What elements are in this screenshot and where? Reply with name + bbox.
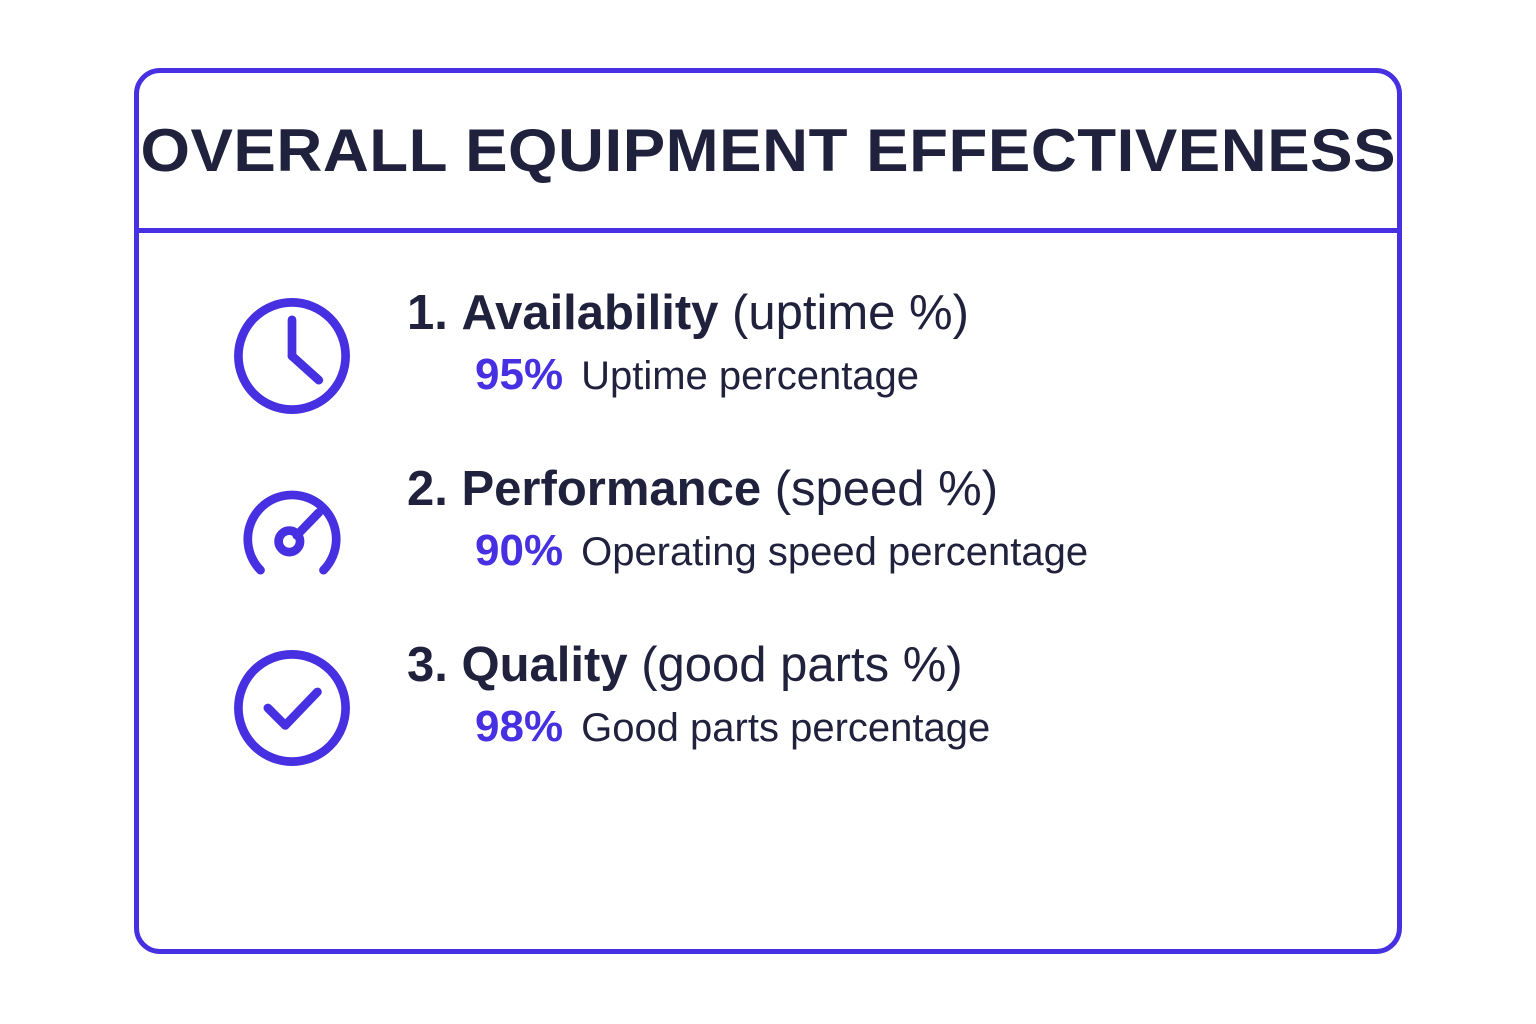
metric-row: 3. Quality (good parts %) 98% Good parts… (223, 635, 1351, 777)
metric-sub: 95% Uptime percentage (407, 352, 1351, 398)
metric-text: 1. Availability (uptime %) 95% Uptime pe… (407, 283, 1351, 398)
metric-heading: 1. Availability (uptime %) (407, 287, 1351, 340)
metric-rank: 2. (407, 462, 448, 516)
clock-icon (223, 287, 361, 425)
metric-rank: 1. (407, 286, 448, 340)
metric-description: Uptime percentage (581, 355, 919, 397)
metric-value: 98% (475, 704, 563, 750)
metric-qualifier: (speed %) (775, 462, 998, 516)
metrics-list: 1. Availability (uptime %) 95% Uptime pe… (139, 233, 1397, 949)
metric-value: 90% (475, 528, 563, 574)
gauge-icon (223, 463, 361, 601)
check-circle-icon (223, 639, 361, 777)
metric-text: 2. Performance (speed %) 90% Operating s… (407, 459, 1351, 574)
page-title: OVERALL EQUIPMENT EFFECTIVENESS (140, 121, 1396, 181)
metric-name: Availability (462, 286, 719, 340)
metric-qualifier: (good parts %) (641, 638, 962, 692)
metric-name: Quality (462, 638, 628, 692)
metric-text: 3. Quality (good parts %) 98% Good parts… (407, 635, 1351, 750)
metric-row: 2. Performance (speed %) 90% Operating s… (223, 459, 1351, 601)
metric-sub: 98% Good parts percentage (407, 704, 1351, 750)
card-header: OVERALL EQUIPMENT EFFECTIVENESS (139, 73, 1397, 233)
metric-description: Good parts percentage (581, 707, 990, 749)
metric-heading: 3. Quality (good parts %) (407, 639, 1351, 692)
metric-rank: 3. (407, 638, 448, 692)
oee-card: OVERALL EQUIPMENT EFFECTIVENESS 1. Avail… (134, 68, 1402, 954)
metric-description: Operating speed percentage (581, 531, 1088, 573)
metric-qualifier: (uptime %) (732, 286, 969, 340)
metric-name: Performance (462, 462, 762, 516)
metric-sub: 90% Operating speed percentage (407, 528, 1351, 574)
metric-value: 95% (475, 352, 563, 398)
metric-heading: 2. Performance (speed %) (407, 463, 1351, 516)
screenshot-canvas: OVERALL EQUIPMENT EFFECTIVENESS 1. Avail… (0, 0, 1536, 1024)
metric-row: 1. Availability (uptime %) 95% Uptime pe… (223, 283, 1351, 425)
